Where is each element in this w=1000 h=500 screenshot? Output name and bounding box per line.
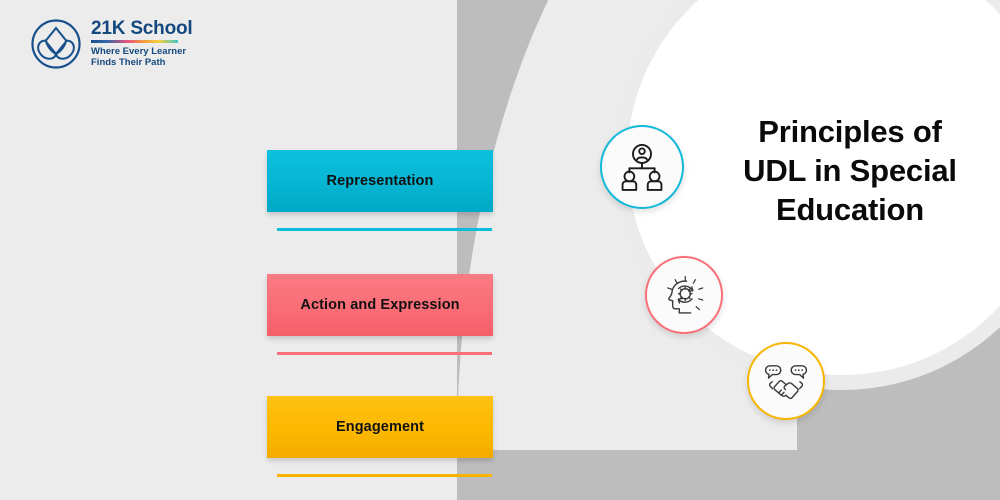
card-underline-representation (277, 228, 492, 231)
people-group-icon (615, 140, 669, 194)
brand-tagline: Where Every Learner Finds Their Path (91, 46, 192, 69)
lotus-circle-icon (30, 18, 82, 70)
handshake-speech-bubbles-icon (761, 356, 811, 406)
headline-line-2: UDL in Special (700, 151, 1000, 190)
card-underline-action-and-expression (277, 352, 492, 355)
principle-card-label: Engagement (336, 419, 424, 435)
principle-card-label: Representation (327, 173, 434, 189)
card-underline-engagement (277, 474, 492, 477)
principle-card-action-and-expression[interactable]: Action and Expression (267, 274, 493, 336)
brand-logo[interactable]: 21K School Where Every Learner Finds The… (30, 18, 192, 70)
head-gear-idea-icon (659, 270, 709, 320)
principle-card-representation[interactable]: Representation (267, 150, 493, 212)
icon-bubble-action-and-expression[interactable] (645, 256, 723, 334)
principle-card-engagement[interactable]: Engagement (267, 396, 493, 458)
brand-tagline-line1: Where Every Learner (91, 46, 186, 57)
brand-logo-text: 21K School Where Every Learner Finds The… (91, 19, 192, 69)
principle-card-label: Action and Expression (300, 297, 459, 313)
brand-tagline-line2: Finds Their Path (91, 57, 165, 68)
icon-bubble-representation[interactable] (600, 125, 684, 209)
headline-line-3: Education (700, 190, 1000, 229)
icon-bubble-engagement[interactable] (747, 342, 825, 420)
brand-name: 21K School (91, 19, 192, 38)
brand-gradient-rule (91, 40, 178, 43)
infographic-canvas: 21K School Where Every Learner Finds The… (0, 0, 1000, 500)
headline-title: Principles of UDL in Special Education (700, 112, 1000, 229)
headline-line-1: Principles of (700, 112, 1000, 151)
